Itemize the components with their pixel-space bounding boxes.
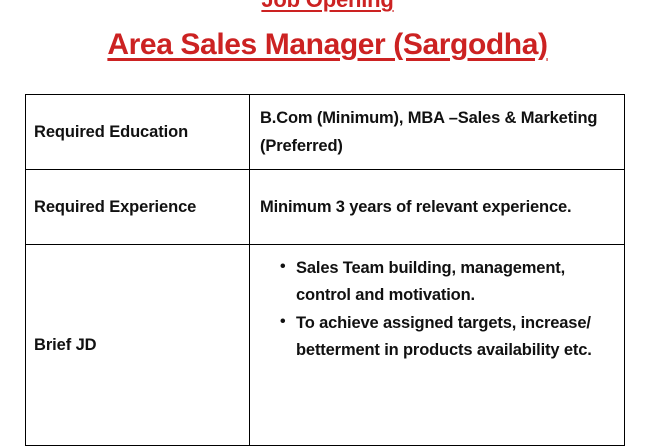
label-brief-jd: Brief JD [26, 328, 249, 362]
job-posting-page: Job Opening Area Sales Manager (Sargodha… [0, 0, 655, 445]
cell-value-required-education: B.Com (Minimum), MBA –Sales & Marketing … [250, 95, 625, 170]
cell-value-brief-jd: Sales Team building, management, control… [250, 245, 625, 446]
brief-jd-bullet-list: Sales Team building, management, control… [250, 245, 624, 372]
cell-label-brief-jd: Brief JD [26, 245, 250, 446]
table-row-required-experience: Required Experience Minimum 3 years of r… [26, 170, 625, 245]
label-required-education: Required Education [26, 115, 249, 149]
cell-value-required-experience: Minimum 3 years of relevant experience. [250, 170, 625, 245]
table-row-brief-jd: Brief JD Sales Team building, management… [26, 245, 625, 446]
page-title: Area Sales Manager (Sargodha) [0, 28, 655, 62]
table-row-required-education: Required Education B.Com (Minimum), MBA … [26, 95, 625, 170]
list-item: To achieve assigned targets, increase/ b… [280, 310, 618, 363]
cell-label-required-education: Required Education [26, 95, 250, 170]
eyebrow-heading: Job Opening [0, 0, 655, 13]
cell-label-required-experience: Required Experience [26, 170, 250, 245]
value-required-education: B.Com (Minimum), MBA –Sales & Marketing … [250, 96, 624, 169]
value-required-experience: Minimum 3 years of relevant experience. [250, 185, 624, 229]
list-item: Sales Team building, management, control… [280, 255, 618, 308]
job-details-table: Required Education B.Com (Minimum), MBA … [25, 94, 625, 446]
label-required-experience: Required Experience [26, 190, 249, 224]
